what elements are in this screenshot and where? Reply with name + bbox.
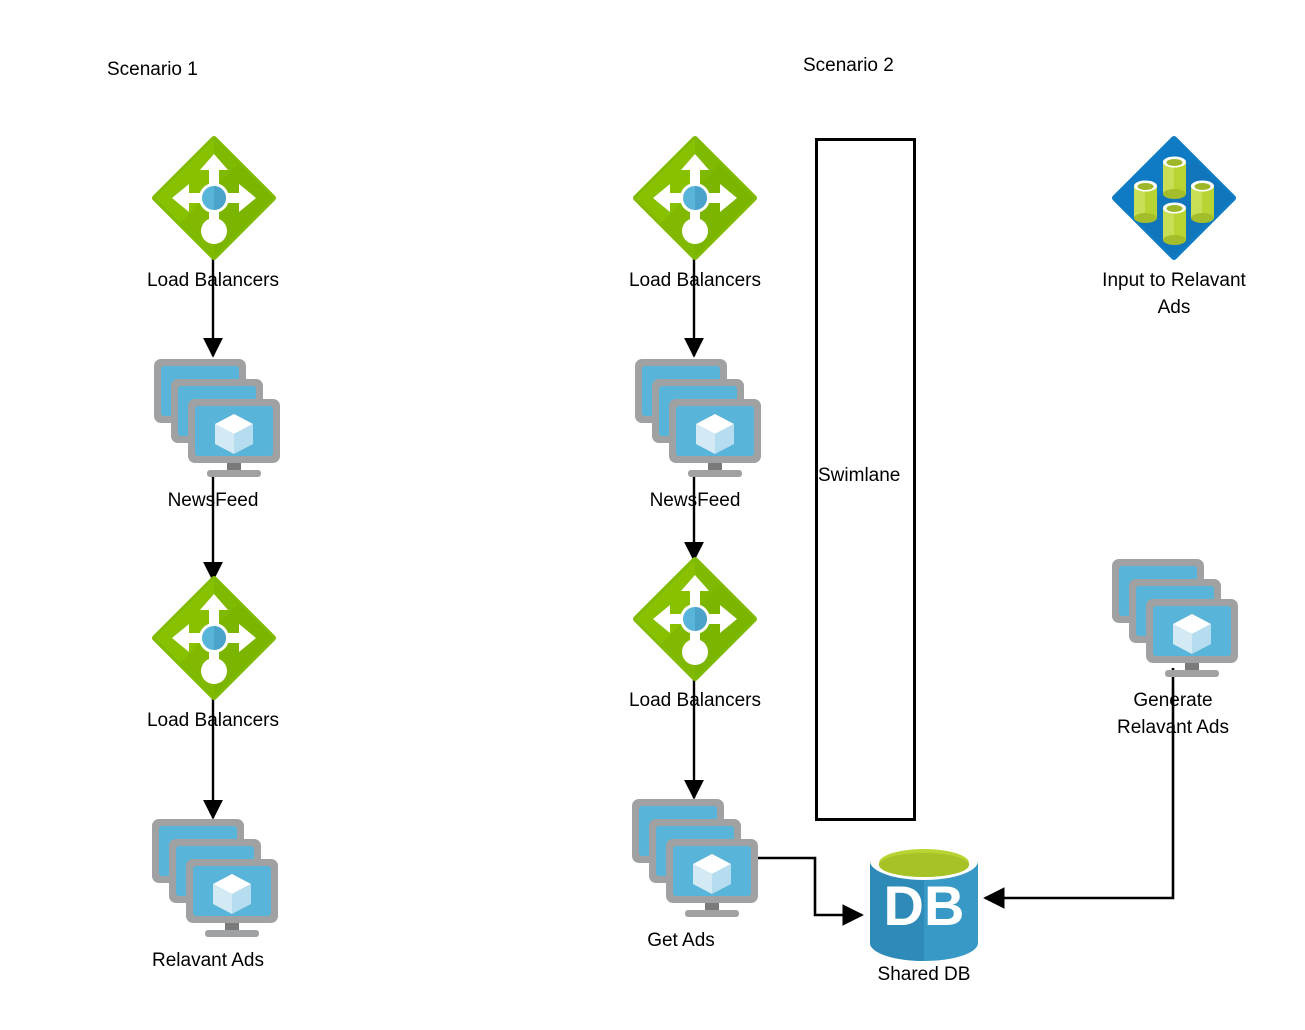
node-s1-newsfeed[interactable] bbox=[152, 357, 280, 479]
label-s2-input-to-relavant-ads: Input to Relavant Ads bbox=[1024, 268, 1305, 322]
node-s2-load-balancer-1[interactable] bbox=[633, 136, 757, 260]
vm-stack-icon bbox=[633, 357, 761, 479]
label-s1-load-balancer-1: Load Balancers bbox=[63, 268, 363, 295]
node-s2-newsfeed[interactable] bbox=[633, 357, 761, 479]
vm-stack-icon bbox=[150, 817, 278, 939]
label-s2-generate-relavant-ads: Generate Relavant Ads bbox=[1023, 688, 1305, 742]
swimlane-label: Swimlane bbox=[818, 465, 900, 487]
node-s2-get-ads[interactable] bbox=[630, 797, 758, 919]
label-s1-load-balancer-2: Load Balancers bbox=[63, 708, 363, 735]
label-s2-load-balancer-1: Load Balancers bbox=[545, 268, 845, 295]
scenario-2-title: Scenario 2 bbox=[803, 55, 894, 78]
load-balancer-icon bbox=[152, 136, 276, 260]
label-s1-newsfeed: NewsFeed bbox=[63, 488, 363, 515]
input-diamond-icon bbox=[1112, 136, 1236, 260]
vm-stack-icon bbox=[1110, 557, 1238, 679]
scenario-1-title: Scenario 1 bbox=[107, 59, 198, 82]
node-s2-shared-db[interactable]: DB bbox=[862, 841, 986, 963]
edge-genads-to-db bbox=[985, 668, 1173, 898]
load-balancer-icon bbox=[152, 576, 276, 700]
database-label: DB bbox=[884, 874, 965, 937]
node-s1-load-balancer-2[interactable] bbox=[152, 576, 276, 700]
node-s1-relavant-ads[interactable] bbox=[150, 817, 278, 939]
label-s2-load-balancer-2: Load Balancers bbox=[545, 688, 845, 715]
node-s2-input-to-relavant-ads[interactable] bbox=[1112, 136, 1236, 260]
node-s1-load-balancer-1[interactable] bbox=[152, 136, 276, 260]
label-s2-get-ads: Get Ads bbox=[531, 928, 831, 955]
load-balancer-icon bbox=[633, 557, 757, 681]
node-s2-generate-relavant-ads[interactable] bbox=[1110, 557, 1238, 679]
diagram-canvas: Scenario 1 Scenario 2 Swimlane Load Bal bbox=[0, 0, 1305, 1030]
vm-stack-icon bbox=[152, 357, 280, 479]
node-s2-load-balancer-2[interactable] bbox=[633, 557, 757, 681]
edge-getads-to-db bbox=[755, 858, 862, 915]
label-s1-relavant-ads: Relavant Ads bbox=[58, 948, 358, 975]
load-balancer-icon bbox=[633, 136, 757, 260]
database-icon: DB bbox=[862, 841, 986, 963]
label-s2-shared-db: Shared DB bbox=[774, 962, 1074, 989]
label-s2-newsfeed: NewsFeed bbox=[545, 488, 845, 515]
vm-stack-icon bbox=[630, 797, 758, 919]
